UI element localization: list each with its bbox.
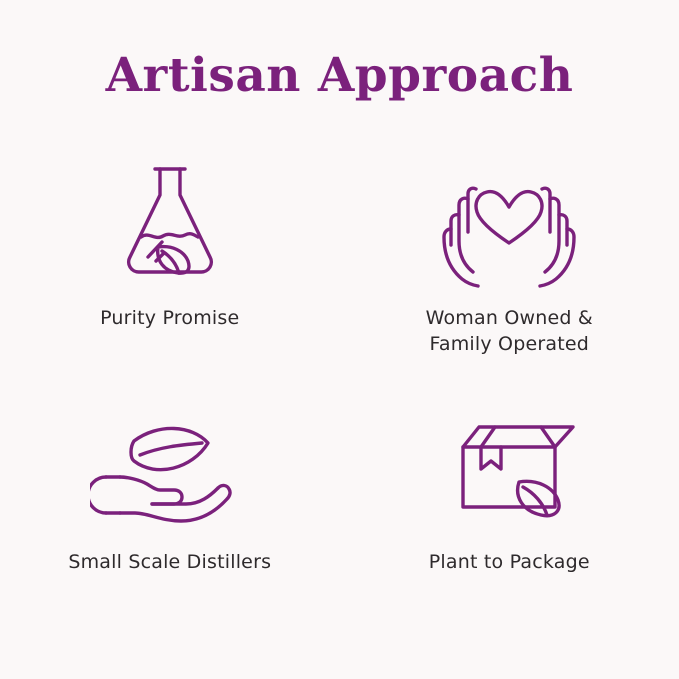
- feature-label-line1: Small Scale Distillers: [68, 550, 271, 576]
- feature-label: Purity Promise: [100, 306, 239, 332]
- feature-label-line1: Woman Owned &: [426, 306, 593, 332]
- flask-with-leaf-icon: [100, 150, 240, 296]
- page-title: Artisan Approach: [0, 48, 679, 103]
- feature-label-line1: Plant to Package: [429, 550, 590, 576]
- feature-item-woman-owned: Woman Owned & Family Operated: [340, 150, 679, 400]
- feature-label-line1: Purity Promise: [100, 306, 239, 332]
- feature-grid: Purity Promise: [0, 150, 679, 650]
- feature-item-small-scale-distillers: Small Scale Distillers: [0, 400, 340, 650]
- feature-label: Plant to Package: [429, 550, 590, 576]
- feature-label: Small Scale Distillers: [68, 550, 271, 576]
- hand-holding-leaf-icon: [90, 400, 250, 540]
- box-with-leaf-icon: [429, 400, 589, 540]
- hands-holding-heart-icon: [424, 150, 594, 296]
- feature-label: Woman Owned & Family Operated: [426, 306, 593, 357]
- artisan-approach-panel: Artisan Approach: [0, 0, 679, 679]
- feature-item-plant-to-package: Plant to Package: [340, 400, 679, 650]
- feature-item-purity-promise: Purity Promise: [0, 150, 340, 400]
- feature-label-line2: Family Operated: [426, 332, 593, 358]
